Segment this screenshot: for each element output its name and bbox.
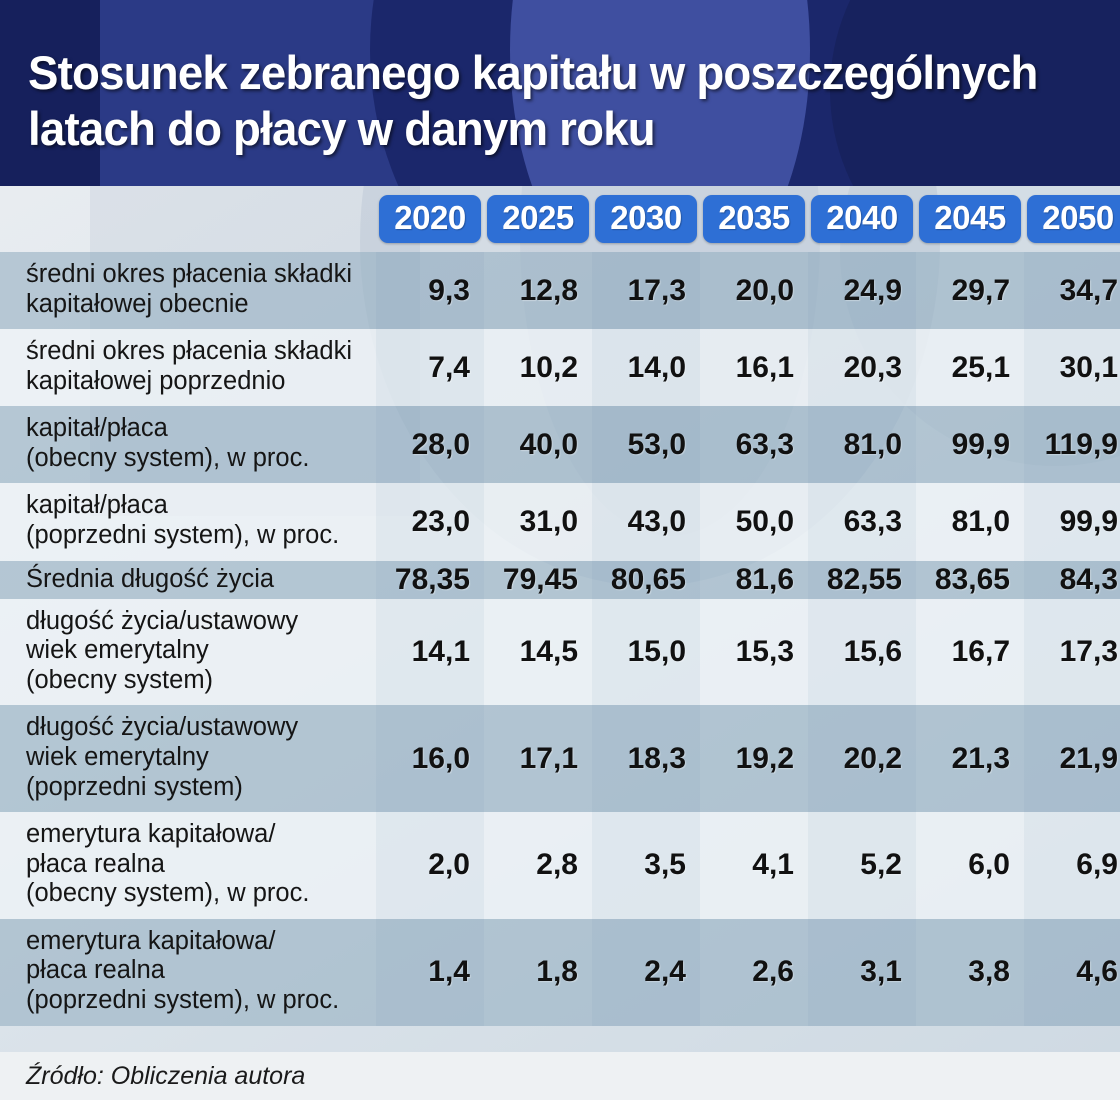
row-label-line: emerytura kapitałowa/ <box>26 820 370 850</box>
table-area: 2020 2025 2030 2035 2040 2045 <box>0 186 1120 1052</box>
cell-value: 78,35 <box>376 561 484 599</box>
cell-value: 29,7 <box>916 252 1024 329</box>
table-row: długość życia/ustawowywiek emerytalny(po… <box>0 705 1120 812</box>
table-row: kapitał/płaca(poprzedni system), w proc.… <box>0 483 1120 560</box>
cell-value: 20,2 <box>808 705 916 812</box>
page-title-line-2: latach do płacy w danym roku <box>28 101 1066 156</box>
cell-value: 7,4 <box>376 329 484 406</box>
cell-value: 4,6 <box>1024 919 1120 1026</box>
row-label-line: kapitałowej obecnie <box>26 290 370 320</box>
cell-value: 30,1 <box>1024 329 1120 406</box>
table-body: średni okres płacenia składkikapitałowej… <box>0 252 1120 1026</box>
row-label-line: płaca realna <box>26 956 370 986</box>
cell-value: 16,7 <box>916 599 1024 706</box>
row-label-line: długość życia/ustawowy <box>26 607 370 637</box>
column-header-2040: 2040 <box>808 186 916 252</box>
cell-value: 17,3 <box>1024 599 1120 706</box>
column-header-2025: 2025 <box>484 186 592 252</box>
cell-value: 14,0 <box>592 329 700 406</box>
row-label-line: średni okres płacenia składki <box>26 260 370 290</box>
row-label: długość życia/ustawowywiek emerytalny(po… <box>0 705 376 812</box>
cell-value: 15,0 <box>592 599 700 706</box>
cell-value: 15,6 <box>808 599 916 706</box>
cell-value: 16,1 <box>700 329 808 406</box>
cell-value: 81,0 <box>916 483 1024 560</box>
cell-value: 63,3 <box>808 483 916 560</box>
cell-value: 6,9 <box>1024 812 1120 919</box>
cell-value: 20,0 <box>700 252 808 329</box>
row-label-line: (obecny system) <box>26 666 370 696</box>
cell-value: 17,1 <box>484 705 592 812</box>
year-badge-label: 2020 <box>379 195 481 243</box>
cell-value: 17,3 <box>592 252 700 329</box>
year-badge-label: 2045 <box>919 195 1021 243</box>
cell-value: 81,0 <box>808 406 916 483</box>
cell-value: 83,65 <box>916 561 1024 599</box>
cell-value: 2,8 <box>484 812 592 919</box>
cell-value: 81,6 <box>700 561 808 599</box>
cell-value: 63,3 <box>700 406 808 483</box>
row-label: emerytura kapitałowa/płaca realna(obecny… <box>0 812 376 919</box>
table-row: kapitał/płaca(obecny system), w proc.28,… <box>0 406 1120 483</box>
cell-value: 3,8 <box>916 919 1024 1026</box>
infographic-root: Stosunek zebranego kapitału w poszczegól… <box>0 0 1120 1100</box>
cell-value: 80,65 <box>592 561 700 599</box>
cell-value: 3,1 <box>808 919 916 1026</box>
cell-value: 53,0 <box>592 406 700 483</box>
cell-value: 25,1 <box>916 329 1024 406</box>
table-row: średni okres płacenia składkikapitałowej… <box>0 252 1120 329</box>
year-badge-label: 2035 <box>703 195 805 243</box>
cell-value: 31,0 <box>484 483 592 560</box>
cell-value: 14,1 <box>376 599 484 706</box>
table-row: długość życia/ustawowywiek emerytalny(ob… <box>0 599 1120 706</box>
column-header-2045: 2045 <box>916 186 1024 252</box>
table-header: 2020 2025 2030 2035 2040 2045 <box>0 186 1120 252</box>
row-label: emerytura kapitałowa/płaca realna(poprze… <box>0 919 376 1026</box>
cell-value: 1,4 <box>376 919 484 1026</box>
row-label-line: (obecny system), w proc. <box>26 444 370 474</box>
table-row: średni okres płacenia składkikapitałowej… <box>0 329 1120 406</box>
cell-value: 24,9 <box>808 252 916 329</box>
row-label: długość życia/ustawowywiek emerytalny(ob… <box>0 599 376 706</box>
table-row: emerytura kapitałowa/płaca realna(obecny… <box>0 812 1120 919</box>
cell-value: 1,8 <box>484 919 592 1026</box>
row-label: kapitał/płaca(obecny system), w proc. <box>0 406 376 483</box>
row-label-line: (poprzedni system), w proc. <box>26 986 370 1016</box>
cell-value: 6,0 <box>916 812 1024 919</box>
year-badge-label: 2050 <box>1027 195 1120 243</box>
source-note: Źródło: Obliczenia autora <box>26 1062 305 1091</box>
row-label: kapitał/płaca(poprzedni system), w proc. <box>0 483 376 560</box>
column-header-2030: 2030 <box>592 186 700 252</box>
cell-value: 43,0 <box>592 483 700 560</box>
cell-value: 84,3 <box>1024 561 1120 599</box>
row-label-line: średni okres płacenia składki <box>26 337 370 367</box>
row-label: Średnia długość życia <box>0 561 376 599</box>
cell-value: 40,0 <box>484 406 592 483</box>
cell-value: 9,3 <box>376 252 484 329</box>
cell-value: 20,3 <box>808 329 916 406</box>
row-label: średni okres płacenia składkikapitałowej… <box>0 329 376 406</box>
table-header-row: 2020 2025 2030 2035 2040 2045 <box>0 186 1120 252</box>
row-label-line: Średnia długość życia <box>26 565 370 595</box>
cell-value: 79,45 <box>484 561 592 599</box>
row-label-line: wiek emerytalny <box>26 743 370 773</box>
cell-value: 82,55 <box>808 561 916 599</box>
row-label-line: długość życia/ustawowy <box>26 713 370 743</box>
cell-value: 4,1 <box>700 812 808 919</box>
year-badge-label: 2025 <box>487 195 589 243</box>
cell-value: 14,5 <box>484 599 592 706</box>
cell-value: 34,7 <box>1024 252 1120 329</box>
cell-value: 2,0 <box>376 812 484 919</box>
row-label-line: kapitał/płaca <box>26 491 370 521</box>
column-header-2050: 2050 <box>1024 186 1120 252</box>
row-label-line: (obecny system), w proc. <box>26 879 370 909</box>
row-label-line: emerytura kapitałowa/ <box>26 927 370 957</box>
cell-value: 99,9 <box>916 406 1024 483</box>
row-label-line: (poprzedni system), w proc. <box>26 521 370 551</box>
cell-value: 21,9 <box>1024 705 1120 812</box>
footer: Źródło: Obliczenia autora <box>0 1052 1120 1100</box>
cell-value: 12,8 <box>484 252 592 329</box>
cell-value: 21,3 <box>916 705 1024 812</box>
cell-value: 50,0 <box>700 483 808 560</box>
row-label-line: kapitałowej poprzednio <box>26 367 370 397</box>
cell-value: 28,0 <box>376 406 484 483</box>
year-badge-label: 2030 <box>595 195 697 243</box>
cell-value: 2,4 <box>592 919 700 1026</box>
cell-value: 16,0 <box>376 705 484 812</box>
row-label-line: płaca realna <box>26 850 370 880</box>
cell-value: 23,0 <box>376 483 484 560</box>
row-label-line: kapitał/płaca <box>26 414 370 444</box>
title-band: Stosunek zebranego kapitału w poszczegól… <box>0 0 1120 186</box>
cell-value: 5,2 <box>808 812 916 919</box>
cell-value: 119,9 <box>1024 406 1120 483</box>
cell-value: 10,2 <box>484 329 592 406</box>
cell-value: 18,3 <box>592 705 700 812</box>
year-badge-label: 2040 <box>811 195 913 243</box>
row-label: średni okres płacenia składkikapitałowej… <box>0 252 376 329</box>
cell-value: 2,6 <box>700 919 808 1026</box>
row-label-line: (poprzedni system) <box>26 773 370 803</box>
page-title: Stosunek zebranego kapitału w poszczegól… <box>28 45 1066 156</box>
header-spacer-cell <box>0 186 376 252</box>
table-row: emerytura kapitałowa/płaca realna(poprze… <box>0 919 1120 1026</box>
row-label-line: wiek emerytalny <box>26 636 370 666</box>
page-title-line-1: Stosunek zebranego kapitału w poszczegól… <box>28 45 1066 100</box>
column-header-2035: 2035 <box>700 186 808 252</box>
cell-value: 99,9 <box>1024 483 1120 560</box>
cell-value: 15,3 <box>700 599 808 706</box>
data-table: 2020 2025 2030 2035 2040 2045 <box>0 186 1120 1026</box>
table-row: Średnia długość życia78,3579,4580,6581,6… <box>0 561 1120 599</box>
column-header-2020: 2020 <box>376 186 484 252</box>
cell-value: 3,5 <box>592 812 700 919</box>
cell-value: 19,2 <box>700 705 808 812</box>
